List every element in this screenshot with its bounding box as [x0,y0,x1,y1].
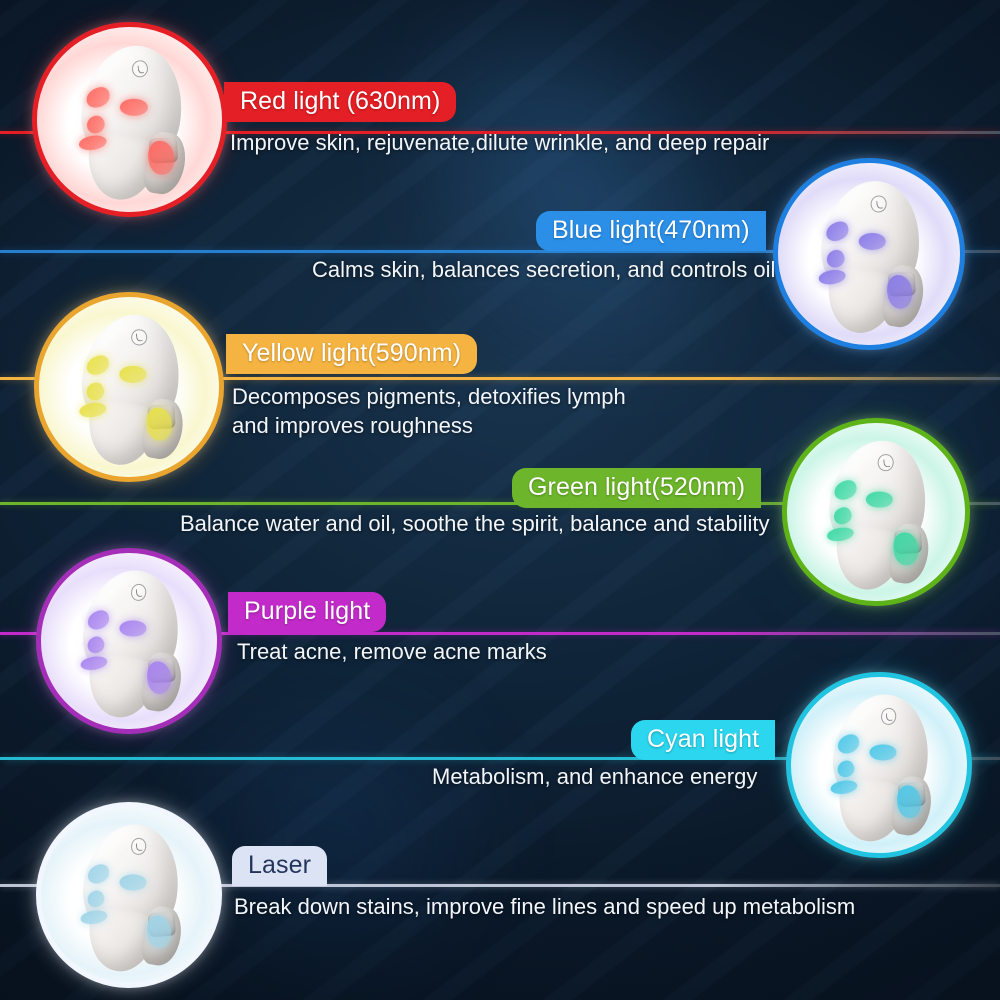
description-yellow: Decomposes pigments, detoxifies lymph an… [232,383,626,440]
mask-image-red [32,22,227,217]
badge-laser[interactable]: Laser [232,846,327,886]
description-red: Improve skin, rejuvenate,dilute wrinkle,… [230,129,769,158]
badge-blue[interactable]: Blue light(470nm) [536,211,766,251]
description-cyan: Metabolism, and enhance energy [432,763,757,792]
mask-image-blue [773,158,965,350]
mode-list: Red light (630nm) Improve skin, rejuvena… [0,0,1000,1000]
mask-image-laser [36,802,222,988]
description-purple: Treat acne, remove acne marks [237,638,547,667]
badge-cyan[interactable]: Cyan light [631,720,775,760]
mask-image-green [782,418,970,606]
mask-image-yellow [34,292,224,482]
description-blue: Calms skin, balances secretion, and cont… [312,256,775,285]
badge-yellow[interactable]: Yellow light(590nm) [226,334,477,374]
description-green: Balance water and oil, soothe the spirit… [180,510,769,539]
mask-image-purple [36,548,222,734]
badge-purple[interactable]: Purple light [228,592,386,632]
mask-image-cyan [786,672,972,858]
badge-red[interactable]: Red light (630nm) [224,82,456,122]
description-laser: Break down stains, improve fine lines an… [234,893,855,922]
badge-green[interactable]: Green light(520nm) [512,468,761,508]
